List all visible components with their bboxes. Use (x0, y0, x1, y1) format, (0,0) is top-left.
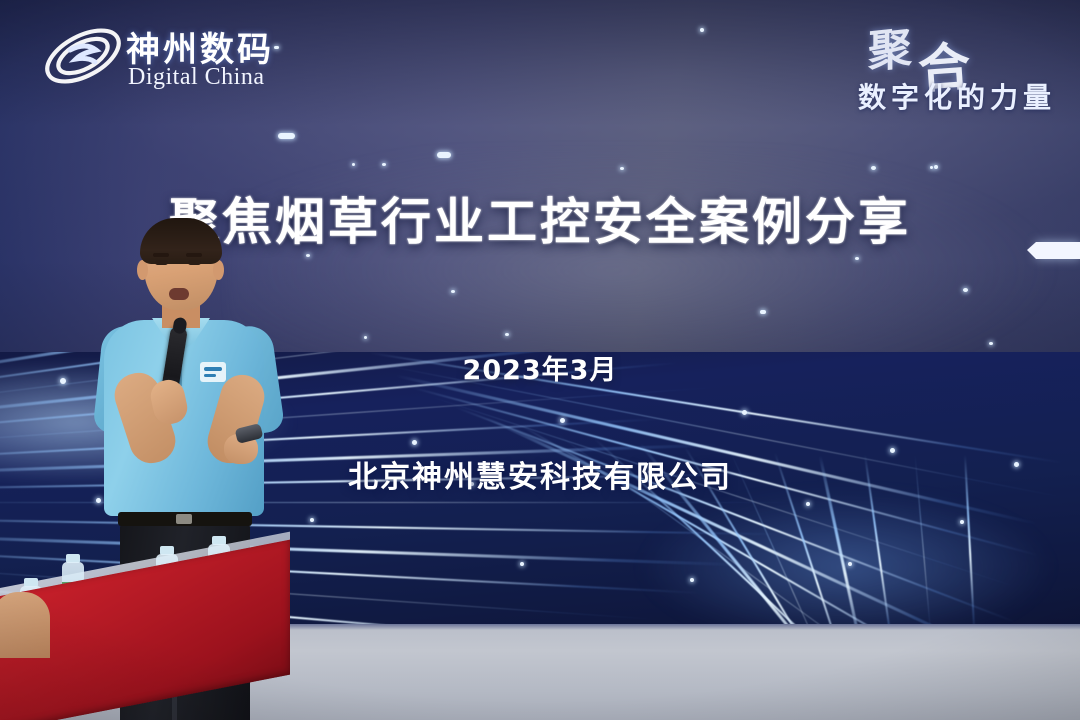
brand-name-en: Digital China (128, 64, 264, 91)
slogan-char-ju: 聚 (868, 12, 912, 81)
digital-china-swirl-icon (40, 20, 126, 92)
presenter-belt (118, 512, 252, 526)
presenter-hair (140, 218, 222, 264)
presenter-eyebrow-right (186, 253, 202, 257)
presenter-eye-left (155, 260, 168, 265)
brand-logo: 神州数码 Digital China (40, 18, 300, 96)
event-slogan: 聚 合 数字化的力量 (792, 14, 1062, 114)
conference-stage-photo: 神州数码 Digital China 聚 合 数字化的力量 聚焦烟草行业工控安全… (0, 0, 1080, 720)
presenter-mouth (169, 288, 189, 300)
presenter-chest-logo-icon (200, 362, 226, 382)
slogan-subline: 数字化的力量 (858, 76, 1056, 116)
presenter-eye-right (188, 260, 201, 265)
presenter-eyebrow-left (153, 253, 169, 257)
audience-member-foreground (0, 592, 50, 658)
